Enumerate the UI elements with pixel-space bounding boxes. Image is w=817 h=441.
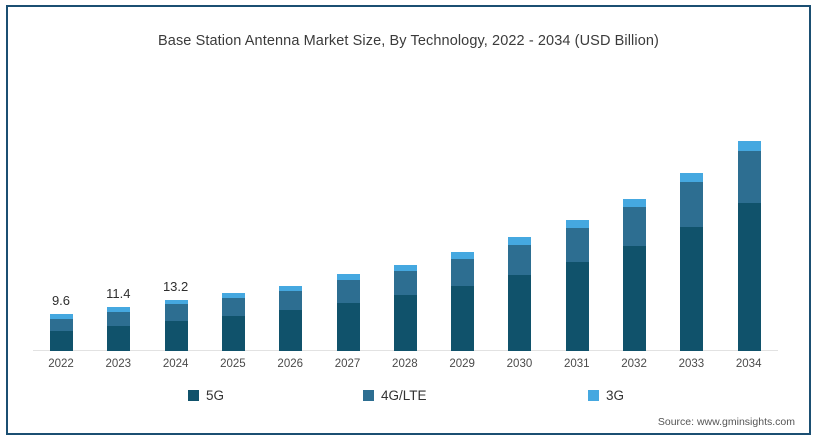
bar-group — [148, 70, 204, 351]
bar-value-label: 13.2 — [148, 279, 204, 294]
bar-segment-5g[interactable] — [508, 275, 531, 351]
bar-segment-5g[interactable] — [337, 303, 360, 352]
stacked-bar[interactable] — [738, 141, 761, 351]
bar-segment-4g-lte[interactable] — [680, 182, 703, 227]
bar-group — [205, 70, 261, 351]
stacked-bar[interactable] — [337, 274, 360, 351]
x-tick-label: 2028 — [377, 358, 433, 370]
bar-segment-5g[interactable] — [279, 310, 302, 351]
bar-segment-4g-lte[interactable] — [337, 280, 360, 302]
legend-swatch-icon — [588, 390, 599, 401]
bar-group — [606, 70, 662, 351]
x-tick-label: 2024 — [148, 358, 204, 370]
bar-segment-4g-lte[interactable] — [394, 271, 417, 295]
stacked-bar[interactable] — [508, 237, 531, 351]
bar-group — [721, 70, 777, 351]
bar-segment-4g-lte[interactable] — [279, 291, 302, 311]
bar-segment-5g[interactable] — [394, 295, 417, 351]
bar-segment-3g[interactable] — [623, 199, 646, 207]
bar-group — [320, 70, 376, 351]
stacked-bar[interactable] — [279, 286, 302, 351]
bar-segment-4g-lte[interactable] — [508, 245, 531, 275]
legend-swatch-icon — [363, 390, 374, 401]
bar-segment-4g-lte[interactable] — [566, 228, 589, 262]
legend-label: 5G — [206, 388, 224, 403]
bar-value-label: 11.4 — [90, 286, 146, 301]
bar-segment-3g[interactable] — [508, 237, 531, 244]
x-tick-label: 2031 — [549, 358, 605, 370]
legend-label: 4G/LTE — [381, 388, 427, 403]
bar-segment-5g[interactable] — [680, 227, 703, 351]
stacked-bar[interactable] — [50, 314, 73, 351]
bar-value-label: 9.6 — [33, 293, 89, 308]
legend-swatch-icon — [188, 390, 199, 401]
bar-group — [33, 70, 89, 351]
bar-segment-4g-lte[interactable] — [738, 151, 761, 203]
chart-title: Base Station Antenna Market Size, By Tec… — [0, 33, 817, 49]
legend-label: 3G — [606, 388, 624, 403]
stacked-bar[interactable] — [451, 252, 474, 351]
x-tick-label: 2034 — [721, 358, 777, 370]
stacked-bar[interactable] — [394, 265, 417, 351]
x-tick-label: 2022 — [33, 358, 89, 370]
stacked-bar[interactable] — [165, 300, 188, 351]
stacked-bar[interactable] — [222, 293, 245, 351]
bar-segment-5g[interactable] — [50, 331, 73, 351]
bar-group — [549, 70, 605, 351]
bar-segment-3g[interactable] — [451, 252, 474, 259]
x-tick-label: 2023 — [90, 358, 146, 370]
stacked-bar[interactable] — [623, 199, 646, 351]
bar-segment-5g[interactable] — [165, 321, 188, 351]
bar-segment-5g[interactable] — [623, 246, 646, 351]
x-tick-label: 2033 — [663, 358, 719, 370]
x-tick-label: 2027 — [320, 358, 376, 370]
bar-segment-5g[interactable] — [738, 203, 761, 351]
legend-item-4g-lte[interactable]: 4G/LTE — [363, 388, 427, 403]
bar-segment-4g-lte[interactable] — [165, 304, 188, 321]
bar-group — [434, 70, 490, 351]
legend-item-3g[interactable]: 3G — [588, 388, 624, 403]
stacked-bar[interactable] — [680, 173, 703, 351]
x-tick-label: 2026 — [262, 358, 318, 370]
x-tick-label: 2032 — [606, 358, 662, 370]
bar-segment-3g[interactable] — [738, 141, 761, 151]
bar-segment-4g-lte[interactable] — [50, 319, 73, 331]
bar-segment-4g-lte[interactable] — [623, 207, 646, 246]
bar-segment-4g-lte[interactable] — [107, 312, 130, 327]
x-tick-label: 2025 — [205, 358, 261, 370]
bar-group — [491, 70, 547, 351]
bar-segment-5g[interactable] — [451, 286, 474, 351]
legend-item-5g[interactable]: 5G — [188, 388, 224, 403]
bar-segment-3g[interactable] — [680, 173, 703, 182]
bar-segment-4g-lte[interactable] — [451, 259, 474, 286]
stacked-bar[interactable] — [107, 307, 130, 351]
bar-segment-5g[interactable] — [107, 326, 130, 351]
bar-group — [262, 70, 318, 351]
bar-segment-4g-lte[interactable] — [222, 298, 245, 316]
bar-group — [90, 70, 146, 351]
x-tick-label: 2029 — [434, 358, 490, 370]
chart-legend: 5G4G/LTE3G — [33, 388, 778, 410]
bar-segment-5g[interactable] — [566, 262, 589, 351]
source-attribution: Source: www.gminsights.com — [658, 416, 795, 428]
bar-group — [377, 70, 433, 351]
x-tick-label: 2030 — [491, 358, 547, 370]
bar-group — [663, 70, 719, 351]
chart-screenshot: Base Station Antenna Market Size, By Tec… — [0, 0, 817, 441]
bar-segment-3g[interactable] — [566, 220, 589, 228]
stacked-bar[interactable] — [566, 220, 589, 351]
bar-segment-5g[interactable] — [222, 316, 245, 351]
